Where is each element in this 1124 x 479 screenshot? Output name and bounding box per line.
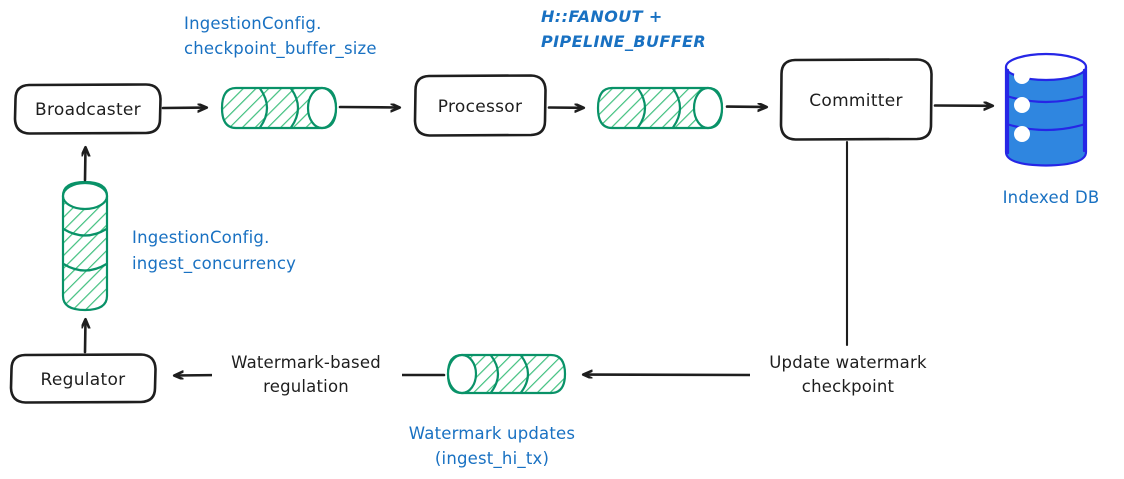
annotation-line-1: IngestionConfig. [132,228,270,247]
arrow-ingest-buffer-to-broadcaster [85,148,86,180]
annotation-line-1: IngestionConfig. [184,14,322,33]
edge-label-line-2: regulation [263,377,349,396]
db-indicator-dot-2 [1014,97,1030,113]
buffer-watermark-updates [448,355,565,393]
buffer-fanout [598,88,722,128]
pipeline-diagram: Broadcaster Processor Committer Regulato… [0,0,1124,479]
arrow-checkpoint-buffer-to-processor [340,107,399,108]
node-broadcaster[interactable]: Broadcaster [15,85,161,134]
node-regulator-label: Regulator [41,370,126,390]
annotation-line-2: ingest_concurrency [132,254,296,274]
edge-label-line-1: Update watermark [769,353,927,372]
annotation-line-1: H::FANOUT + [541,7,663,26]
node-committer[interactable]: Committer [781,60,932,140]
arrow-regulator-to-ingest-buffer [85,320,86,352]
edge-label-line-2: checkpoint [802,377,895,396]
node-broadcaster-label: Broadcaster [35,100,141,120]
node-processor[interactable]: Processor [415,76,546,136]
node-processor-label: Processor [438,97,523,117]
annotation-fanout-pipeline-buffer: H::FANOUT + PIPELINE_BUFFER [541,7,706,51]
annotation-line-2: checkpoint_buffer_size [184,39,377,59]
annotation-watermark-updates: Watermark updates (ingest_hi_tx) [409,424,575,469]
edge-label-watermark-based-regulation: Watermark-based regulation [212,348,402,402]
annotation-ingest-concurrency: IngestionConfig. ingest_concurrency [132,228,296,274]
annotation-line-2: PIPELINE_BUFFER [541,32,706,51]
annotation-checkpoint-buffer-size: IngestionConfig. checkpoint_buffer_size [184,14,377,59]
indexed-db-caption: Indexed DB [1003,188,1100,207]
edge-label-line-1: Watermark-based [231,353,381,372]
node-committer-label: Committer [809,91,903,111]
db-indicator-dot-1 [1014,68,1030,84]
diagram-canvas: Broadcaster Processor Committer Regulato… [0,0,1124,479]
buffer-checkpoint [222,88,336,128]
buffer-ingest-concurrency [63,182,107,310]
annotation-line-2: (ingest_hi_tx) [435,449,549,469]
annotation-line-1: Watermark updates [409,424,575,443]
node-indexed-db[interactable] [1006,54,1086,166]
edge-label-update-watermark-checkpoint: Update watermark checkpoint [750,348,946,402]
node-regulator[interactable]: Regulator [11,355,156,403]
db-indicator-dot-3 [1014,126,1030,142]
